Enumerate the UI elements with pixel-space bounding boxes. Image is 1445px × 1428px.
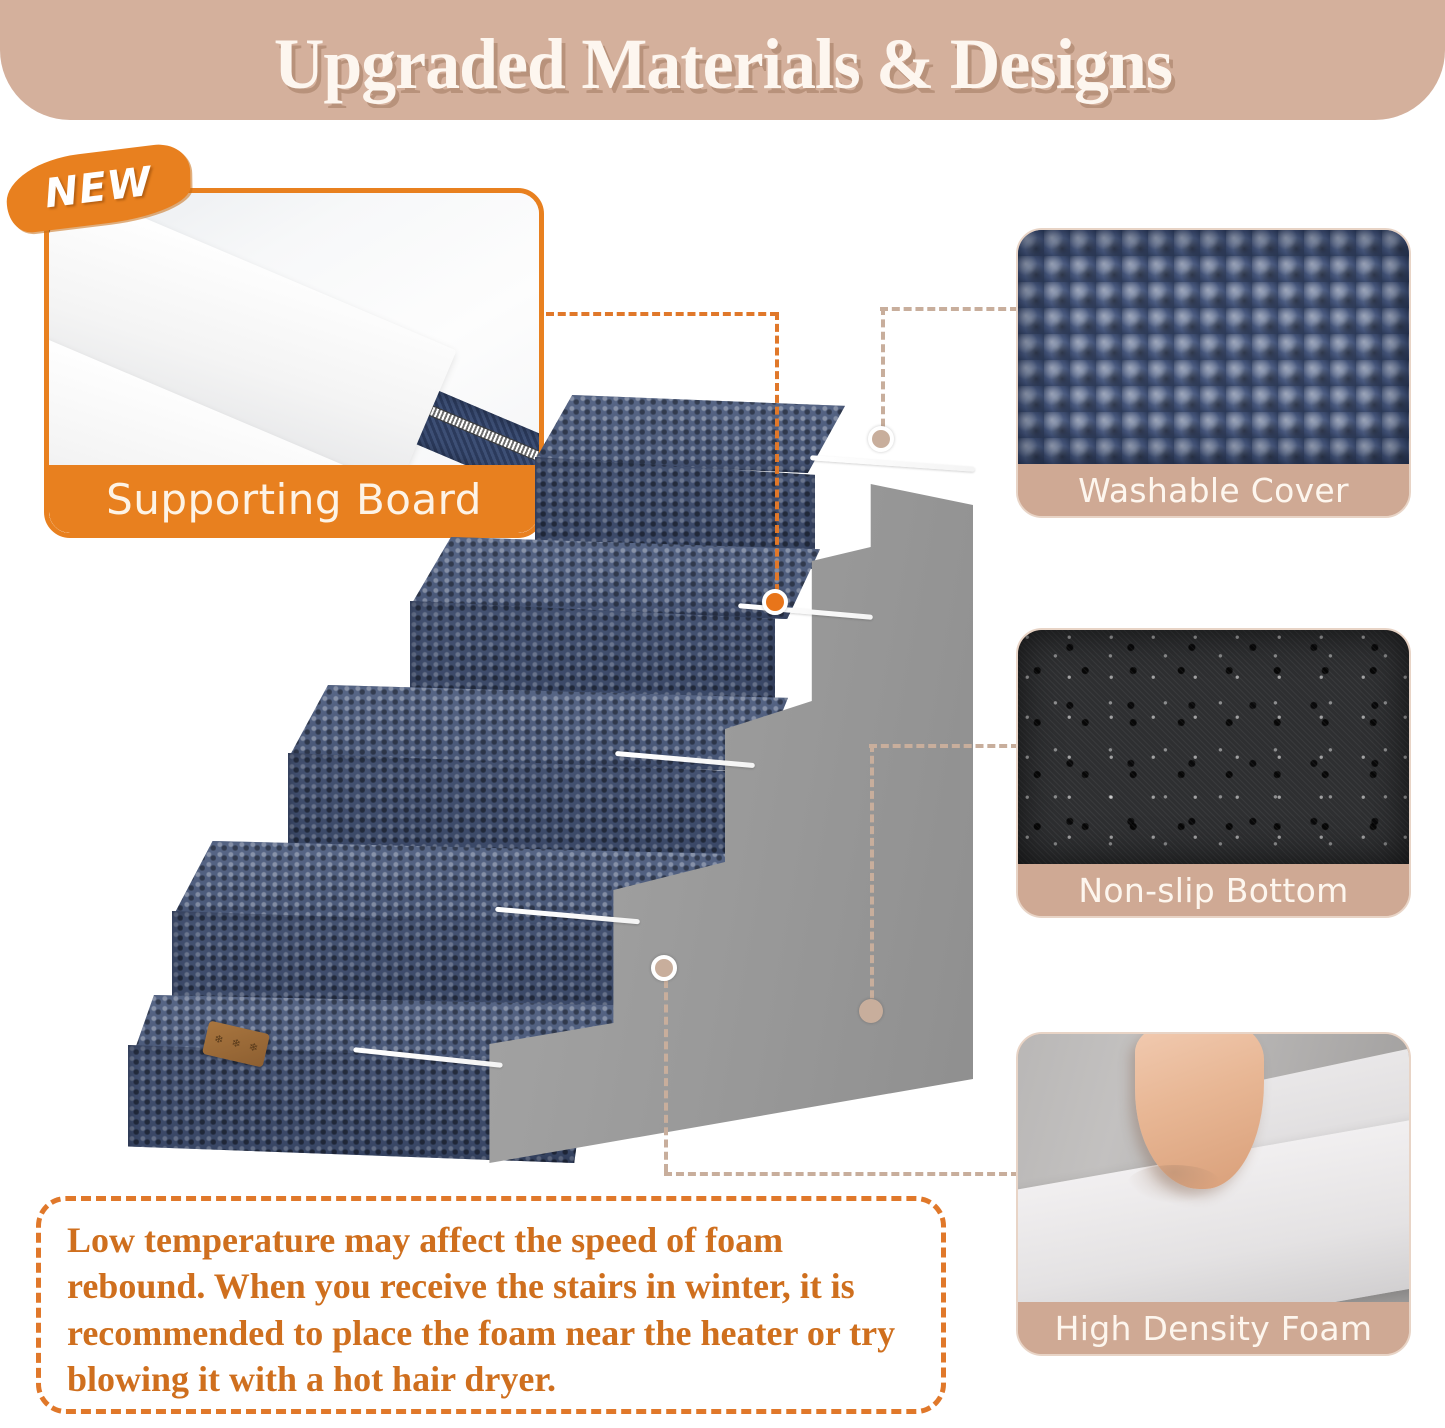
foam-connector-dot [651, 955, 677, 981]
winter-care-note-text: Low temperature may affect the speed of … [67, 1217, 915, 1403]
washable-cover-label: Washable Cover [1078, 471, 1349, 510]
high-density-foam-label: High Density Foam [1055, 1309, 1373, 1348]
washable-cover-connector-dot [868, 426, 894, 452]
non-slip-bottom-texture [1018, 630, 1409, 864]
washable-cover-connector-horizontal [880, 307, 1018, 311]
page-title: Upgraded Materials & Designs [273, 23, 1171, 120]
feature-card-non-slip-bottom: Non-slip Bottom [1016, 628, 1411, 918]
paw-print-icon: ❄ [248, 1042, 259, 1055]
header-banner: Upgraded Materials & Designs [0, 0, 1445, 120]
edge-highlight [810, 455, 975, 471]
feature-card-washable-cover: Washable Cover [1016, 228, 1411, 518]
new-badge: NEW [6, 152, 191, 224]
supporting-board-connector-vertical [775, 312, 779, 604]
non-slip-connector-vertical [870, 744, 874, 1010]
pet-stairs-product: ❄ ❄ ❄ [110, 395, 990, 1185]
new-badge-label: NEW [2, 141, 194, 235]
high-density-foam-caption: High Density Foam [1018, 1302, 1409, 1354]
foam-connector-vertical [664, 980, 668, 1172]
washable-cover-texture [1018, 230, 1409, 464]
non-slip-connector-dot [859, 999, 883, 1023]
paw-print-icon: ❄ [213, 1034, 224, 1047]
non-slip-connector-horizontal [869, 744, 1019, 748]
winter-care-note: Low temperature may affect the speed of … [36, 1196, 946, 1414]
washable-cover-connector-vertical [881, 307, 885, 439]
foam-connector-horizontal [664, 1172, 1019, 1176]
feature-card-high-density-foam: High Density Foam [1016, 1032, 1411, 1356]
paw-print-icon: ❄ [230, 1038, 241, 1051]
supporting-board-connector-horizontal [546, 312, 778, 316]
high-density-foam-photo [1018, 1034, 1409, 1302]
supporting-board-connector-dot [762, 589, 788, 615]
infographic-page: Upgraded Materials & Designs Supporting … [0, 0, 1445, 1428]
non-slip-bottom-label: Non-slip Bottom [1078, 871, 1348, 910]
washable-cover-caption: Washable Cover [1018, 464, 1409, 516]
non-slip-bottom-caption: Non-slip Bottom [1018, 864, 1409, 916]
foam-indentation [1127, 1165, 1221, 1203]
